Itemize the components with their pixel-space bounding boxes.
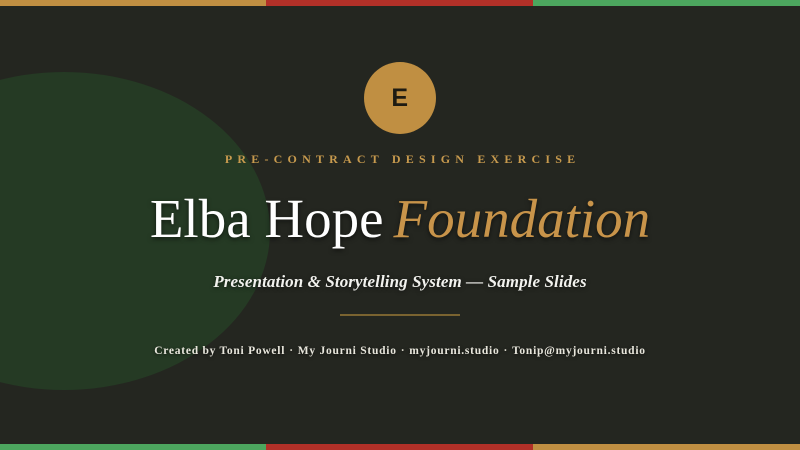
credits-line: Created by Toni Powell·My Journi Studio·… [0, 345, 800, 357]
credits-separator-1: · [285, 345, 298, 357]
credits-email[interactable]: Tonip@myjourni.studio [512, 345, 646, 357]
logo-badge-letter: E [391, 86, 408, 111]
logo-badge: E [364, 62, 436, 134]
credits-studio: My Journi Studio [298, 345, 397, 357]
credits-separator-3: · [499, 345, 512, 357]
divider-rule [340, 314, 460, 316]
slide-content: E PRE-CONTRACT DESIGN EXERCISE Elba Hope… [0, 0, 800, 450]
slide-subtitle: Presentation & Storytelling System — Sam… [0, 272, 800, 292]
page-title: Elba HopeFoundation [0, 190, 800, 248]
title-primary: Elba Hope [150, 188, 384, 249]
eyebrow-label: PRE-CONTRACT DESIGN EXERCISE [0, 152, 800, 167]
credits-website[interactable]: myjourni.studio [409, 345, 499, 357]
credits-separator-2: · [397, 345, 410, 357]
credits-author: Created by Toni Powell [154, 345, 285, 357]
title-accent: Foundation [394, 188, 651, 249]
title-slide: E PRE-CONTRACT DESIGN EXERCISE Elba Hope… [0, 0, 800, 450]
